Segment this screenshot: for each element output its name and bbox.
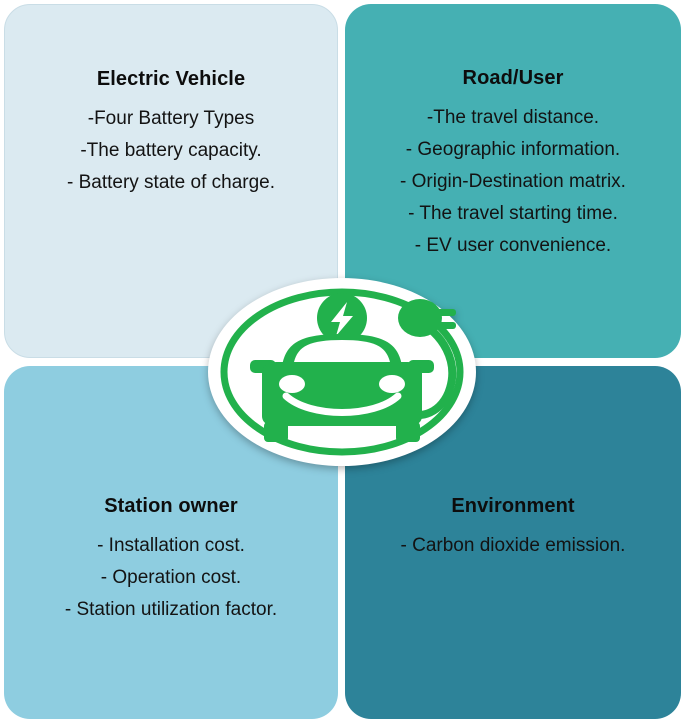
electric-vehicle-charging-logo-icon xyxy=(206,276,478,468)
list-item: - The travel starting time. xyxy=(345,198,681,230)
quadrant-list-road-user: -The travel distance. - Geographic infor… xyxy=(345,102,681,262)
quadrant-list-environment: - Carbon dioxide emission. xyxy=(345,530,681,562)
list-item: - Battery state of charge. xyxy=(5,167,337,199)
ev-factors-diagram: Electric Vehicle -Four Battery Types -Th… xyxy=(0,0,685,723)
quadrant-list-electric-vehicle: -Four Battery Types -The battery capacit… xyxy=(5,103,337,199)
quadrant-title-station-owner: Station owner xyxy=(104,494,238,518)
list-item: - Installation cost. xyxy=(4,530,338,562)
quadrant-title-road-user: Road/User xyxy=(463,66,564,90)
quadrant-title-environment: Environment xyxy=(451,494,574,518)
list-item: - Origin-Destination matrix. xyxy=(345,166,681,198)
list-item: -The travel distance. xyxy=(345,102,681,134)
quadrant-title-electric-vehicle: Electric Vehicle xyxy=(97,67,245,91)
list-item: - Operation cost. xyxy=(4,562,338,594)
quadrant-list-station-owner: - Installation cost. - Operation cost. -… xyxy=(4,530,338,626)
list-item: - EV user convenience. xyxy=(345,230,681,262)
list-item: - Carbon dioxide emission. xyxy=(345,530,681,562)
list-item: -Four Battery Types xyxy=(5,103,337,135)
list-item: - Station utilization factor. xyxy=(4,594,338,626)
list-item: -The battery capacity. xyxy=(5,135,337,167)
list-item: - Geographic information. xyxy=(345,134,681,166)
